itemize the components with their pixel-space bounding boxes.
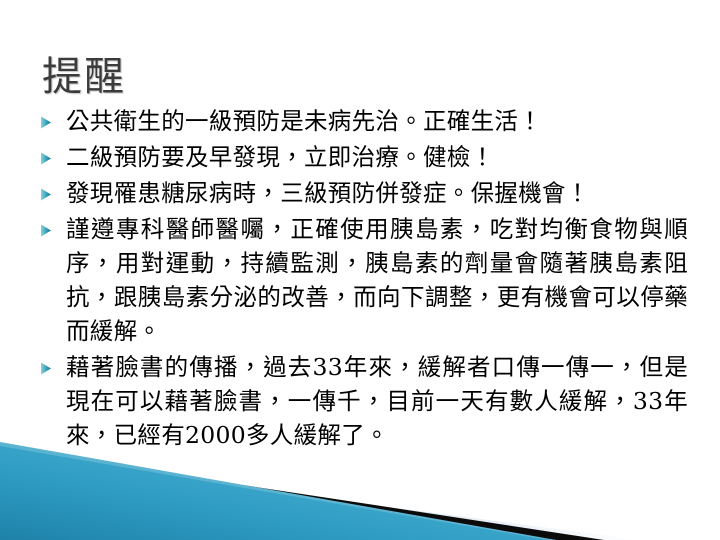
bullet-text: 發現罹患糖尿病時，三級預防併發症。保握機會！ (66, 176, 688, 210)
triangle-bullet-icon (40, 176, 66, 201)
triangle-bullet-icon (40, 140, 66, 165)
list-item: 謹遵專科醫師醫囑，正確使用胰島素，吃對均衡食物與順序，用對運動，持續監測，胰島素… (40, 212, 688, 348)
list-item: 二級預防要及早發現，立即治療。健檢！ (40, 140, 688, 174)
bullet-text: 藉著臉書的傳播，過去33年來，緩解者口傳一傳一，但是現在可以藉著臉書，一傳千，目… (66, 350, 688, 452)
page-title: 提醒 (42, 55, 662, 99)
bullet-text: 公共衛生的一級預防是未病先治。正確生活！ (66, 104, 688, 138)
triangle-bullet-icon (40, 350, 66, 375)
triangle-bullet-icon (40, 212, 66, 237)
bullet-text: 二級預防要及早發現，立即治療。健檢！ (66, 140, 688, 174)
list-item: 公共衛生的一級預防是未病先治。正確生活！ (40, 104, 688, 138)
bullet-list: 公共衛生的一級預防是未病先治。正確生活！ 二級預防要及早發現，立即治療。健檢！ … (40, 104, 688, 454)
bullet-text: 謹遵專科醫師醫囑，正確使用胰島素，吃對均衡食物與順序，用對運動，持續監測，胰島素… (66, 212, 688, 348)
presentation-slide: 提醒 公共衛生的一級預防是未病先治。正確生活！ (0, 0, 720, 540)
triangle-bullet-icon (40, 104, 66, 129)
list-item: 藉著臉書的傳播，過去33年來，緩解者口傳一傳一，但是現在可以藉著臉書，一傳千，目… (40, 350, 688, 452)
list-item: 發現罹患糖尿病時，三級預防併發症。保握機會！ (40, 176, 688, 210)
